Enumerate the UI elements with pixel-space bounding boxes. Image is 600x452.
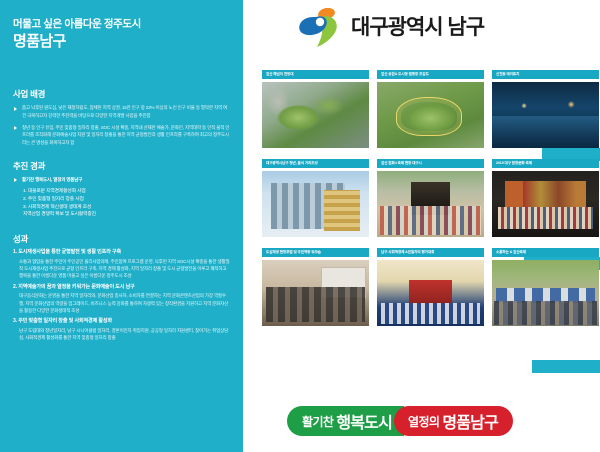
gallery-item-6-caption: 2019 대구 합창문화 축제 xyxy=(492,159,599,168)
result-item-1: 1. 도시재생사업을 통한 균형발전 및 생활 인프라 구축 소통과 협업을 통… xyxy=(13,249,230,279)
gallery-row-3: 도심재생 현장포럼 및 주민역량 워크숍 남구 사회적경제 &민일자리 평가대회… xyxy=(262,248,600,326)
gallery-item-7-caption: 도심재생 현장포럼 및 주민역량 워크숍 xyxy=(262,248,369,257)
result-item-1-body: 소통과 협업을 통한 주민이 주인공인 물리사업의례, 주민참여 프로그램 운영… xyxy=(19,258,230,280)
gallery-item-9[interactable]: 소통하는 & 앞산축제 xyxy=(492,248,599,326)
photo-stage-performance xyxy=(492,171,599,237)
gallery-item-4-caption: 대구광역시남구 청년, 음식 거리조성 xyxy=(262,159,369,168)
progress-sub-item-2: 2. 주민 맞춤형 일자리 창출 사업 xyxy=(23,196,230,204)
gallery-item-6[interactable]: 2019 대구 합창문화 축제 xyxy=(492,159,599,237)
photo-gallery: 앞산 해넘이 전망대 앞산 공원& 도시형 캠핑장 조감도 신천동 데이트지 xyxy=(262,70,600,337)
gallery-item-1[interactable]: 앞산 해넘이 전망대 xyxy=(262,70,369,148)
result-item-2-body: 대구음식문화는 운영을 통한 지역 일자리와, 문화산업 종사자, 소비자를 연… xyxy=(19,292,230,314)
section-background: 사업 배경 좁고 낙후된 원도심, 낮은 재정자립도, 침체된 지역 상권, 1… xyxy=(13,88,230,145)
photo-night-waterfront xyxy=(492,82,599,148)
result-item-2-heading: 2. 지역예술가의 꿈과 열정을 키워가는 문화예술이 도시 남구 xyxy=(13,284,230,292)
gallery-item-2-caption: 앞산 공원& 도시형 캠핑장 조감도 xyxy=(377,70,484,79)
section-progress-bullet-1-text: 활기찬 행복도시, 열정의 명품남구 xyxy=(22,177,82,182)
hero-subtitle: 머물고 싶은 아름다운 정주도시 xyxy=(13,18,230,31)
photo-meeting-room xyxy=(262,260,369,326)
gallery-item-8[interactable]: 남구 사회적경제 &민일자리 평가대회 xyxy=(377,248,484,326)
progress-sub-item-4: 지역산업 경쟁력 확보 및 도시활력증진 xyxy=(23,211,230,219)
section-background-bullet-2: 청년 등 인구 유입, 주민 맞춤형 일자리 창출, SOC 시설 확충, 지역… xyxy=(13,124,230,146)
section-progress-title: 추진 경과 xyxy=(13,160,230,172)
section-progress-sublist: 1. 대불로문 지역경제활성화 사업 2. 주민 맞춤형 일자리 창출 사업 3… xyxy=(23,188,230,219)
header-title: 대구광역시 남구 xyxy=(351,17,484,38)
left-info-panel: 머물고 싶은 아름다운 정주도시 명품남구 사업 배경 좁고 낙후된 원도심, … xyxy=(0,0,243,452)
section-results-title: 성과 xyxy=(13,233,230,245)
result-item-3-body: 남구 도립대와 청년일자리, 남구 시니어클럽 일자리, 결혼이민자 취업지원,… xyxy=(19,327,230,342)
gallery-item-5[interactable]: 앞산 원화4 축제 현장 대구시 xyxy=(377,159,484,237)
photo-assembly-hall xyxy=(377,260,484,326)
gallery-item-7[interactable]: 도심재생 현장포럼 및 주민역량 워크숍 xyxy=(262,248,369,326)
hero-title: 명품남구 xyxy=(13,33,230,50)
slogan-red-pill: 열정의 명품남구 xyxy=(394,406,513,436)
slogan-green-large: 행복도시 xyxy=(336,409,392,433)
result-item-3-heading: 3. 주민 맞춤형 일자리 창출 및 사회적경제 활성화 xyxy=(13,318,230,326)
gallery-item-3-caption: 신천동 데이트지 xyxy=(492,70,599,79)
slogan-red-large: 명품남구 xyxy=(442,409,498,433)
photo-park-plan xyxy=(377,82,484,148)
photo-aerial-park xyxy=(262,82,369,148)
deco-bar-3 xyxy=(532,360,600,373)
section-progress-bullet-1: 활기찬 행복도시, 열정의 명품남구 xyxy=(13,176,230,183)
photo-outdoor-market xyxy=(492,260,599,326)
gallery-item-3-photo xyxy=(492,82,599,148)
gallery-item-4-photo xyxy=(262,171,369,237)
gallery-item-3[interactable]: 신천동 데이트지 xyxy=(492,70,599,148)
slogan-green-pill: 활기찬 행복도시 xyxy=(287,406,404,436)
gallery-row-2: 대구광역시남구 청년, 음식 거리조성 앞산 원화4 축제 현장 대구시 201… xyxy=(262,159,600,237)
gallery-item-9-photo xyxy=(492,260,599,326)
section-background-bullet-1: 좁고 낙후된 원도심, 낮은 재정자립도, 침체된 지역 상권, 15만 인구 … xyxy=(13,104,230,119)
gallery-item-1-caption: 앞산 해넘이 전망대 xyxy=(262,70,369,79)
progress-sub-item-3: 3. 사회적경제 혁신생태 생태계 조성 xyxy=(23,204,230,212)
photo-modern-building xyxy=(262,171,369,237)
gallery-item-2-photo xyxy=(377,82,484,148)
photo-group-gathering xyxy=(377,171,484,237)
progress-sub-item-1: 1. 대불로문 지역경제활성화 사업 xyxy=(23,188,230,196)
gallery-row-1: 앞산 해넘이 전망대 앞산 공원& 도시형 캠핑장 조감도 신천동 데이트지 xyxy=(262,70,600,148)
section-background-title: 사업 배경 xyxy=(13,88,230,100)
gallery-item-6-photo xyxy=(492,171,599,237)
slogan-red-small: 열정의 xyxy=(408,413,439,430)
result-item-3: 3. 주민 맞춤형 일자리 창출 및 사회적경제 활성화 남구 도립대와 청년일… xyxy=(13,318,230,341)
gallery-item-2[interactable]: 앞산 공원& 도시형 캠핑장 조감도 xyxy=(377,70,484,148)
header-logo-block: 대구광역시 남구 xyxy=(296,6,484,48)
gallery-item-8-caption: 남구 사회적경제 &민일자리 평가대회 xyxy=(377,248,484,257)
result-item-1-heading: 1. 도시재생사업을 통한 균형발전 및 생활 인프라 구축 xyxy=(13,249,230,257)
section-progress: 추진 경과 활기찬 행복도시, 열정의 명품남구 1. 대불로문 지역경제활성화… xyxy=(13,160,230,219)
section-results: 성과 1. 도시재생사업을 통한 균형발전 및 생활 인프라 구축 소통과 협업… xyxy=(13,233,230,341)
slogan-banner: 활기찬 행복도시 열정의 명품남구 xyxy=(287,406,513,436)
slogan-green-small: 활기찬 xyxy=(302,413,333,430)
gallery-item-5-caption: 앞산 원화4 축제 현장 대구시 xyxy=(377,159,484,168)
gallery-item-8-photo xyxy=(377,260,484,326)
namgu-logo-icon xyxy=(296,6,342,48)
result-item-2: 2. 지역예술가의 꿈과 열정을 키워가는 문화예술이 도시 남구 대구음식문화… xyxy=(13,284,230,314)
hero-title-block: 머물고 싶은 아름다운 정주도시 명품남구 xyxy=(13,18,230,50)
gallery-item-7-photo xyxy=(262,260,369,326)
poster-page: 머물고 싶은 아름다운 정주도시 명품남구 사업 배경 좁고 낙후된 원도심, … xyxy=(0,0,600,452)
gallery-item-4[interactable]: 대구광역시남구 청년, 음식 거리조성 xyxy=(262,159,369,237)
gallery-item-1-photo xyxy=(262,82,369,148)
gallery-item-9-caption: 소통하는 & 앞산축제 xyxy=(492,248,599,257)
right-content-area: 대구광역시 남구 앞산 해넘이 전망대 앞산 공원& 도시형 캠핑장 조감도 xyxy=(243,0,600,452)
gallery-item-5-photo xyxy=(377,171,484,237)
